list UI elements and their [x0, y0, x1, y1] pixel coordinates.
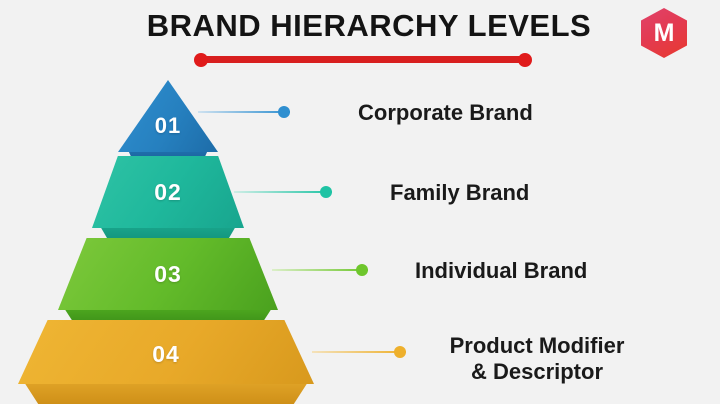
- connector-dot-02: [320, 186, 332, 198]
- level-04-number: 04: [152, 341, 180, 368]
- connector-line-01: [198, 111, 290, 113]
- pyramid-diagram: 01 02 03 04: [0, 0, 420, 404]
- rule-endpoint-right-dot: [518, 53, 532, 67]
- connector-line-04: [312, 351, 406, 353]
- connector-level-01: [198, 106, 290, 118]
- pyramid-level-04[interactable]: 04: [18, 320, 314, 384]
- connector-level-04: [312, 346, 406, 358]
- logo-letter: M: [641, 8, 687, 58]
- level-01-number: 01: [155, 113, 181, 139]
- label-level-02: Family Brand: [390, 180, 529, 206]
- connector-level-02: [234, 186, 332, 198]
- connector-dot-01: [278, 106, 290, 118]
- label-level-03: Individual Brand: [415, 258, 587, 284]
- connector-dot-03: [356, 264, 368, 276]
- brand-logo: M: [641, 8, 687, 58]
- connector-line-03: [272, 269, 368, 271]
- infographic-canvas: BRAND HIERARCHY LEVELS M 01 02 03 04: [0, 0, 720, 404]
- level-02-number: 02: [154, 179, 182, 206]
- pyramid-level-03[interactable]: 03: [58, 238, 278, 310]
- connector-line-02: [234, 191, 332, 193]
- pyramid-level-02[interactable]: 02: [92, 156, 244, 228]
- connector-level-03: [272, 264, 368, 276]
- connector-dot-04: [394, 346, 406, 358]
- label-level-04: Product Modifier & Descriptor: [422, 333, 652, 385]
- level-04-base-slab: [24, 382, 308, 404]
- label-level-01: Corporate Brand: [358, 100, 533, 126]
- level-03-number: 03: [154, 261, 182, 288]
